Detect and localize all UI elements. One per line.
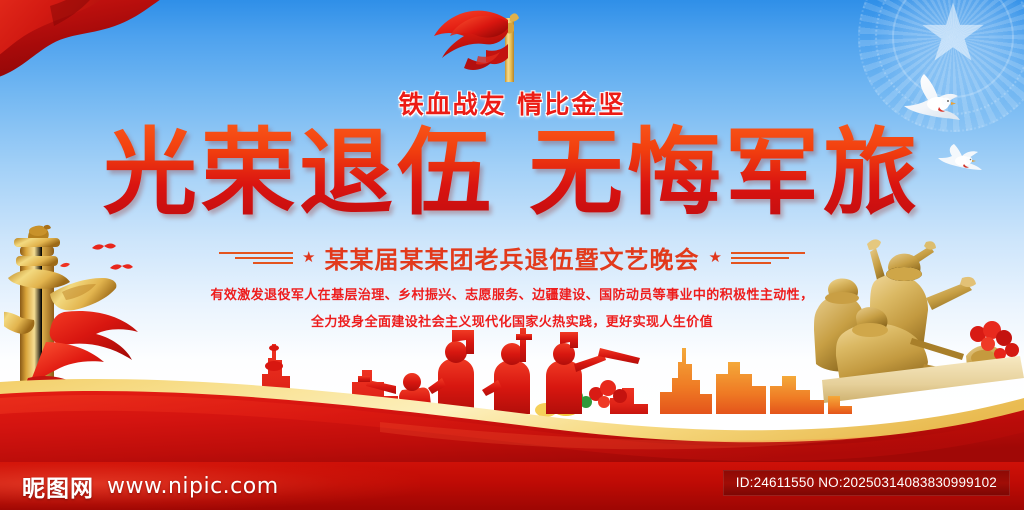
rule-left-decor	[219, 252, 293, 264]
event-title: 某某届某某团老兵退伍暨文艺晚会	[325, 240, 700, 275]
star-right-icon: ★	[709, 250, 722, 265]
star-left-icon: ★	[302, 250, 315, 265]
footer-bar: 昵图网 www.nipic.com ID:24611550 NO:2025031…	[0, 462, 1024, 510]
poster-text-content: 铁血战友 情比金坚 光荣退伍无悔军旅 ★ 某某届某某团老兵退伍暨文艺晚会 ★ 有…	[0, 0, 1024, 462]
body-line-1: 有效激发退役军人在基层治理、乡村振兴、志愿服务、边疆建设、国防动员等事业中的积极…	[0, 282, 1024, 309]
site-logo: 昵图网	[22, 469, 94, 503]
main-title-part1: 光荣退伍	[103, 119, 495, 228]
poster-canvas: 铁血战友 情比金坚 光荣退伍无悔军旅 ★ 某某届某某团老兵退伍暨文艺晚会 ★ 有…	[0, 0, 1024, 510]
rule-right-decor	[731, 252, 805, 264]
poster-body-text: 有效激发退役军人在基层治理、乡村振兴、志愿服务、边疆建设、国防动员等事业中的积极…	[0, 282, 1024, 336]
poster-subtitle-top: 铁血战友 情比金坚	[0, 85, 1024, 121]
poster-main-title: 光荣退伍无悔军旅	[0, 118, 1024, 230]
body-line-2: 全力投身全面建设社会主义现代化国家火热实践，更好实现人生价值	[0, 309, 1024, 336]
main-title-part2: 无悔军旅	[529, 119, 921, 228]
site-url[interactable]: www.nipic.com	[107, 474, 279, 499]
event-line: ★ 某某届某某团老兵退伍暨文艺晚会 ★	[0, 240, 1024, 275]
image-id-badge: ID:24611550 NO:20250314083830999102	[723, 470, 1010, 496]
